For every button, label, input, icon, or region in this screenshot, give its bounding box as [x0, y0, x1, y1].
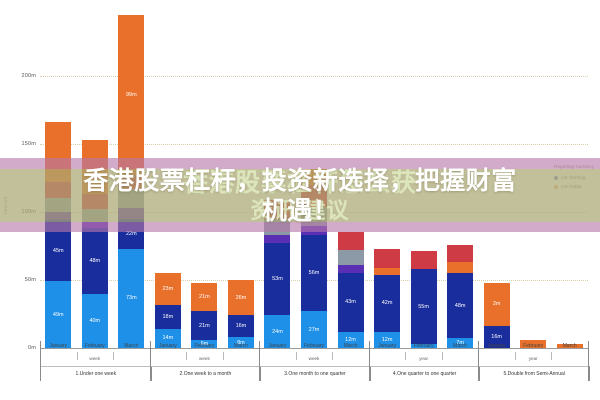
group-sub-label: week: [269, 356, 359, 361]
group-sub-label: week: [159, 356, 249, 361]
bar-segment-light-blue: 73m: [118, 249, 144, 348]
group-separator: [259, 341, 260, 381]
group-separator: [150, 341, 151, 381]
group-band-g2[interactable]: 2.One week to a month: [150, 366, 262, 381]
group-sub-label: week: [50, 356, 140, 361]
bar-segment-purple: [264, 235, 290, 243]
bar-value-label: 99m: [126, 92, 137, 98]
bar-segment-dark-blue: 55m: [411, 269, 437, 344]
bar-g2-january[interactable]: 14m18m23m: [155, 273, 181, 348]
y-axis-tick-label: 200m: [21, 73, 36, 79]
bar-value-label: 49m: [53, 312, 64, 318]
bar-value-label: 16m: [236, 323, 247, 329]
watermark-main-line1: 香港股票杠杆，投资新选择，把握财富: [83, 166, 517, 196]
bar-value-label: 18m: [163, 314, 174, 320]
group-separator: [40, 341, 41, 381]
bar-value-label: 21m: [199, 323, 210, 329]
group-sub-label: year: [488, 356, 578, 361]
bar-value-label: 23m: [163, 286, 174, 292]
bar-g2-february[interactable]: 6m21m21m: [191, 283, 217, 348]
bar-segment-dark-blue: 48m: [82, 228, 108, 293]
bar-segment-dark-blue: 42m: [374, 275, 400, 332]
group-separator: [478, 341, 479, 381]
bar-segment-orange: [374, 268, 400, 275]
y-axis-tick-label: 150m: [21, 141, 36, 147]
bar-g4-march[interactable]: 7m48m: [447, 245, 473, 348]
bar-segment-orange: 99m: [118, 15, 144, 175]
bar-segment-light-blue: 40m: [82, 294, 108, 348]
group-band-g4[interactable]: 4.One quarter to one quarter: [369, 366, 481, 381]
bar-segment-dark-blue: 56m: [301, 235, 327, 311]
bar-value-label: 43m: [345, 299, 356, 305]
bar-segment-dark-blue: 53m: [264, 243, 290, 315]
group-band-g1[interactable]: 1.Under one week: [40, 366, 152, 381]
bar-segment-orange: 26m: [228, 280, 254, 315]
group-band-g3[interactable]: 3.One month to one quarter: [259, 366, 371, 381]
group-sub-label: year: [379, 356, 469, 361]
bar-segment-dark-blue: 21m: [191, 311, 217, 340]
watermark-main-line2: 机遇！: [262, 196, 339, 226]
bar-value-label: 26m: [236, 295, 247, 301]
bar-segment-orange: 21m: [191, 283, 217, 312]
bar-g4-february[interactable]: 55m: [411, 251, 437, 348]
bar-segment-red: [338, 232, 364, 250]
bar-value-label: 21m: [199, 294, 210, 300]
bar-segment-red: [411, 251, 437, 269]
chart-canvas: 0m50m100m150m200m49m45m40m48m73m22m99m14…: [0, 0, 600, 400]
bar-value-label: 12m: [382, 337, 393, 343]
bar-segment-dark-blue: 43m: [338, 273, 364, 331]
bar-segment-orange: [447, 262, 473, 273]
watermark-main-text: 香港股票杠杆，投资新选择，把握财富 机遇！: [0, 160, 600, 232]
group-separator: [588, 341, 589, 381]
bar-segment-purple: [338, 265, 364, 273]
bar-value-label: 2m: [493, 301, 501, 307]
y-axis-tick-label: 50m: [25, 277, 36, 283]
bar-value-label: 12m: [345, 337, 356, 343]
y-axis-tick-label: 0m: [28, 345, 36, 351]
bar-g5-january[interactable]: 16m2m: [484, 283, 510, 348]
bar-value-label: 48m: [89, 258, 100, 264]
bar-segment-orange: 2m: [484, 283, 510, 327]
bar-value-label: 14m: [163, 335, 174, 341]
bar-value-label: 73m: [126, 295, 137, 301]
bar-g2-march[interactable]: 8m16m26m: [228, 280, 254, 348]
bar-segment-red: [374, 249, 400, 268]
bar-value-label: 27m: [309, 327, 320, 333]
bar-g1-january[interactable]: 49m45m: [45, 122, 71, 348]
group-band-g5[interactable]: 5.Double from Semi-Annual: [478, 366, 590, 381]
group-separator: [369, 341, 370, 381]
bar-value-label: 55m: [418, 304, 429, 310]
bar-segment-dark-blue: 48m: [447, 273, 473, 338]
bar-value-label: 40m: [89, 318, 100, 324]
bar-segment-grey: [338, 250, 364, 265]
bar-g4-january[interactable]: 12m42m: [374, 249, 400, 348]
bar-value-label: 53m: [272, 276, 283, 282]
bar-value-label: 16m: [491, 334, 502, 340]
bar-value-label: 48m: [455, 303, 466, 309]
bar-value-label: 45m: [53, 248, 64, 254]
bar-segment-dark-blue: 16m: [228, 315, 254, 337]
bar-value-label: 56m: [309, 270, 320, 276]
bar-value-label: 42m: [382, 300, 393, 306]
bar-value-label: 24m: [272, 329, 283, 335]
bar-segment-light-blue: 49m: [45, 281, 71, 348]
bar-segment-orange: 23m: [155, 273, 181, 304]
bar-segment-dark-blue: 18m: [155, 305, 181, 329]
x-axis-tick-label: March: [548, 343, 592, 349]
bar-g3-march[interactable]: 12m43m: [338, 232, 364, 348]
bar-segment-red: [447, 245, 473, 263]
